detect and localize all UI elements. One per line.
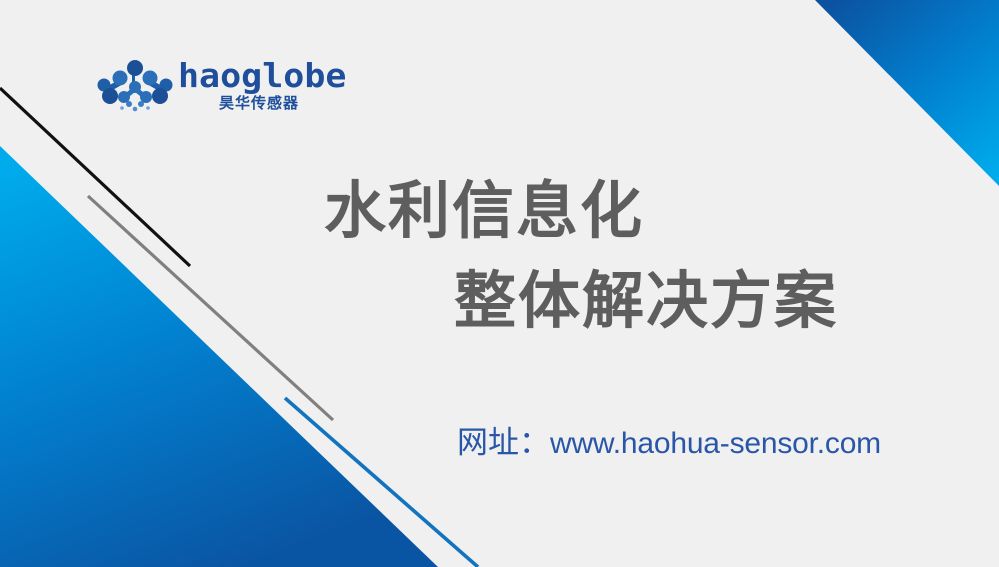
website-url[interactable]: www.haohua-sensor.com bbox=[550, 427, 881, 460]
page-title: 水利信息化 整体解决方案 bbox=[318, 166, 878, 346]
logo-sub-wordmark: 昊华传感器 bbox=[219, 94, 299, 112]
page-title-line-1: 水利信息化 bbox=[318, 166, 878, 256]
haoglobe-network-dots-icon bbox=[96, 60, 174, 116]
website-line: 网址：www.haohua-sensor.com bbox=[457, 420, 881, 472]
page-title-line-2: 整体解决方案 bbox=[318, 256, 878, 346]
website-label: 网址： bbox=[457, 425, 550, 461]
brand-logo[interactable]: haoglobe 昊华传感器 bbox=[96, 58, 321, 120]
logo-text-group: haoglobe 昊华传感器 bbox=[178, 58, 323, 116]
logo-wordmark: haoglobe bbox=[178, 58, 346, 94]
slide-canvas: haoglobe 昊华传感器 水利信息化 整体解决方案 网址：www.haohu… bbox=[0, 0, 999, 567]
